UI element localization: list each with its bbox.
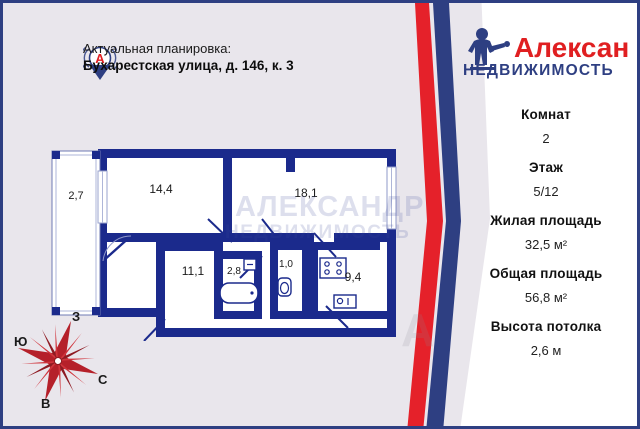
compass-label-west: Ю bbox=[14, 334, 27, 349]
compass-label-east: С bbox=[98, 372, 107, 387]
spec-value-floor: 5/12 bbox=[458, 184, 634, 199]
compass-rose-icon: З Ю С В bbox=[8, 306, 128, 416]
property-specs: Комнат 2 Этаж 5/12 Жилая площадь 32,5 м²… bbox=[458, 107, 634, 358]
brand-subtitle: НЕДВИЖИМОСТЬ bbox=[463, 62, 614, 79]
spec-value-ceiling: 2,6 м bbox=[458, 343, 634, 358]
room-area-kitchen: 9,4 bbox=[345, 270, 362, 284]
room-area-bathroom: 2,8 bbox=[227, 266, 241, 277]
compass-label-north: З bbox=[72, 309, 80, 324]
header-text: Актуальная планировка: Бухарестская улиц… bbox=[83, 41, 294, 74]
spec-label-total-area: Общая площадь bbox=[458, 266, 634, 281]
room-area-bedroom: 18,1 bbox=[294, 186, 318, 200]
spec-label-rooms: Комнат bbox=[458, 107, 634, 122]
spec-label-ceiling: Высота потолка bbox=[458, 319, 634, 334]
header-address: Бухарестская улица, д. 146, к. 3 bbox=[83, 57, 294, 74]
compass-label-south: В bbox=[41, 396, 50, 411]
window-right bbox=[387, 167, 396, 229]
room-area-wc: 1,0 bbox=[279, 259, 293, 270]
brand-logo: Александр НЕДВИЖИМОСТЬ bbox=[458, 25, 628, 83]
spec-value-living-area: 32,5 м² bbox=[458, 237, 634, 252]
room-area-balcony: 2,7 bbox=[68, 190, 83, 202]
brand-name: Александр bbox=[514, 32, 628, 63]
spec-value-rooms: 2 bbox=[458, 131, 634, 146]
room-area-hall: 11,1 bbox=[182, 264, 205, 278]
spec-label-floor: Этаж bbox=[458, 160, 634, 175]
spec-label-living-area: Жилая площадь bbox=[458, 213, 634, 228]
spec-value-total-area: 56,8 м² bbox=[458, 290, 634, 305]
header-caption: Актуальная планировка: bbox=[83, 41, 294, 57]
room-area-living-room: 14,4 bbox=[149, 182, 173, 196]
listing-card: A Актуальная планировка: Бухарестская ул… bbox=[0, 0, 640, 429]
stove-icon bbox=[320, 258, 346, 278]
